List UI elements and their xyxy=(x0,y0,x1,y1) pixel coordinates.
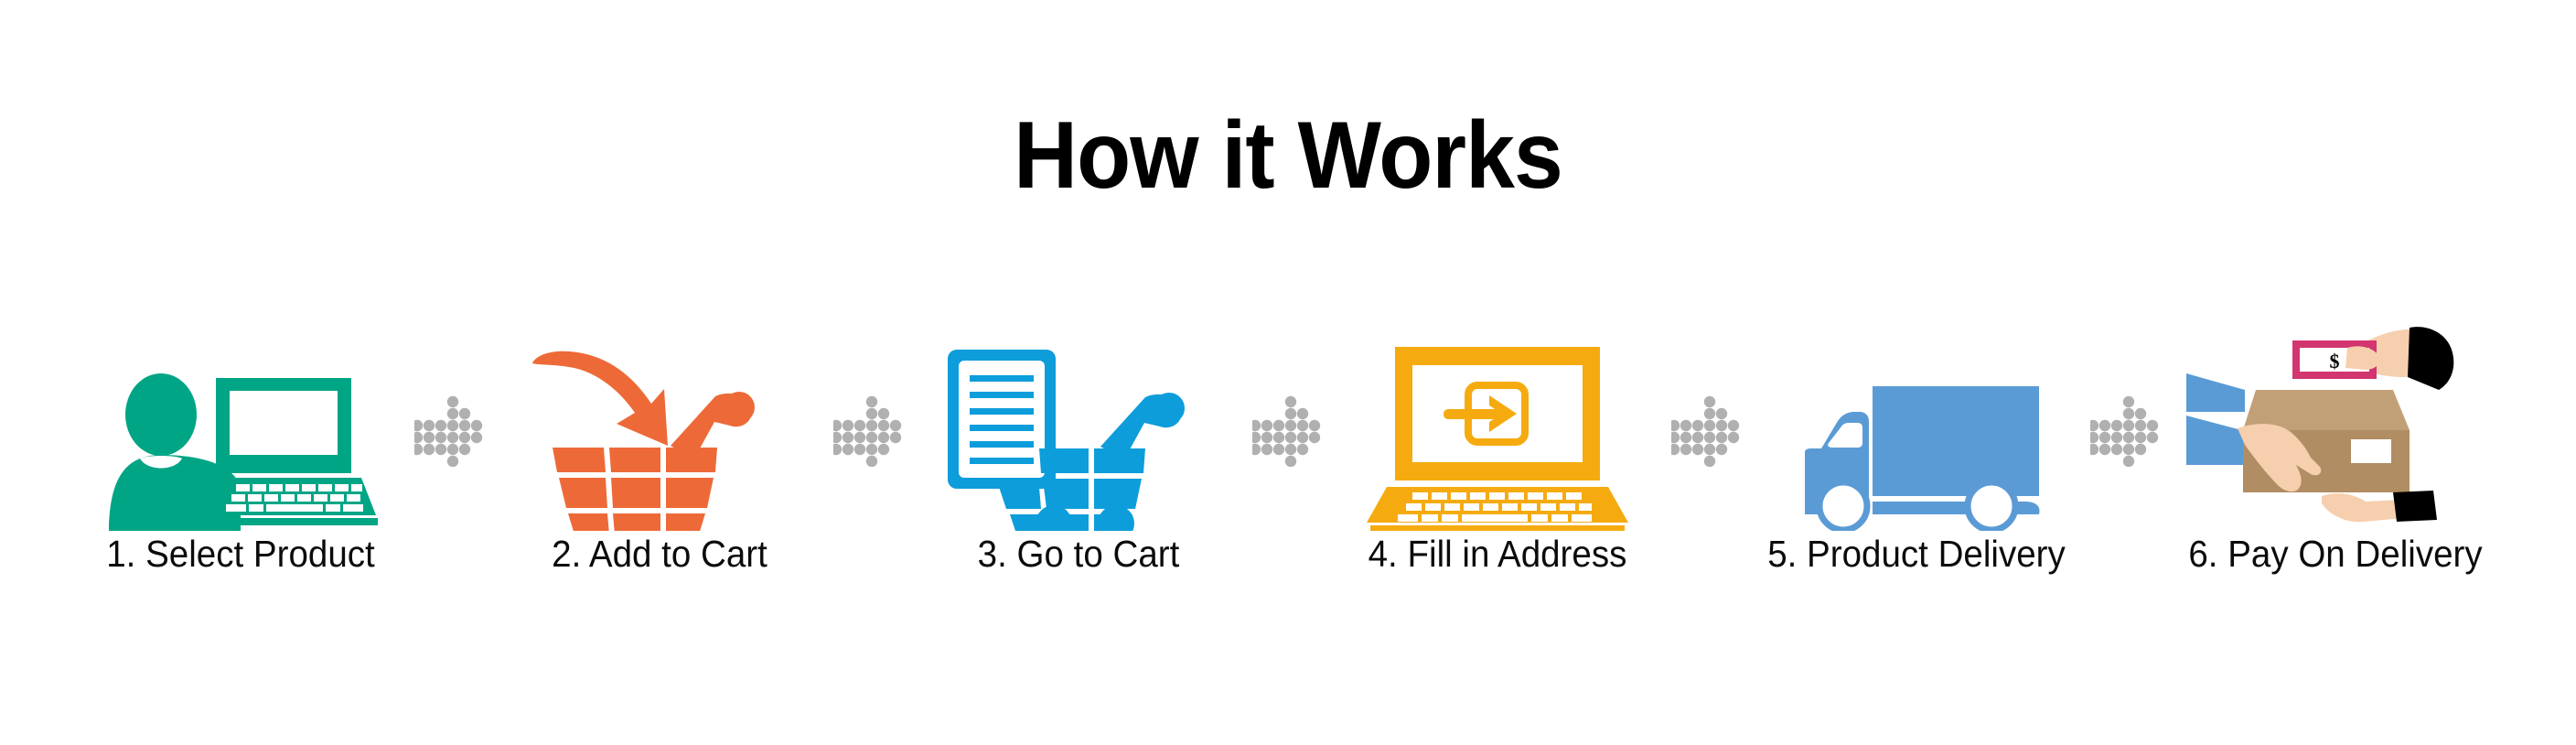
dotted-arrow-right-icon xyxy=(1252,395,1324,467)
laptop-login-icon xyxy=(1324,311,1671,531)
how-it-works-infographic: How it Works xyxy=(0,0,2576,745)
step-6-pay-on-delivery: $ xyxy=(2162,311,2509,604)
step-3-go-to-cart: 3. Go to Cart xyxy=(905,311,1252,604)
cart-with-arrow-icon xyxy=(486,311,833,531)
step-2-label: 2. Add to Cart xyxy=(496,534,822,575)
steps-row: 1. Select Product xyxy=(0,311,2576,604)
step-5-label: 5. Product Delivery xyxy=(1753,534,2079,575)
dotted-arrow-right-icon xyxy=(2090,395,2162,467)
step-5-product-delivery: 5. Product Delivery xyxy=(1743,311,2090,604)
step-2-add-to-cart: 2. Add to Cart xyxy=(486,311,833,604)
step-1-select-product: 1. Select Product xyxy=(67,311,414,604)
separator-3 xyxy=(1252,311,1324,604)
step-1-label: 1. Select Product xyxy=(77,534,403,575)
step-4-label: 4. Fill in Address xyxy=(1334,534,1660,575)
document-with-cart-icon xyxy=(905,311,1252,531)
money-dollar-symbol: $ xyxy=(2330,350,2340,372)
separator-4 xyxy=(1671,311,1743,604)
separator-5 xyxy=(2090,311,2162,604)
separator-2 xyxy=(833,311,905,604)
page-title: How it Works xyxy=(91,108,2486,203)
separator-1 xyxy=(414,311,486,604)
hands-exchanging-box-and-money-icon: $ xyxy=(2162,311,2509,531)
person-with-laptop-icon xyxy=(67,311,414,531)
dotted-arrow-right-icon xyxy=(1671,395,1743,467)
step-3-label: 3. Go to Cart xyxy=(915,534,1241,575)
step-4-fill-in-address: 4. Fill in Address xyxy=(1324,311,1671,604)
dotted-arrow-right-icon xyxy=(833,395,905,467)
dotted-arrow-right-icon xyxy=(414,395,486,467)
delivery-truck-icon xyxy=(1743,311,2090,531)
step-6-label: 6. Pay On Delivery xyxy=(2172,534,2498,575)
